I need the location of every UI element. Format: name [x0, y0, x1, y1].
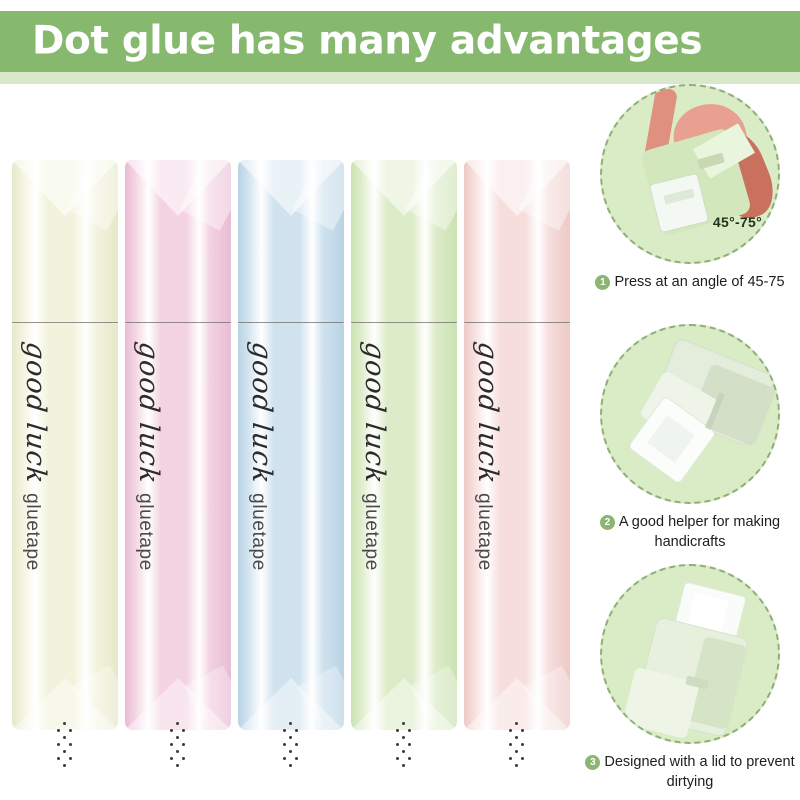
- pen-cap: [12, 160, 118, 323]
- glue-tape-applicator-tip-photo: [600, 324, 780, 504]
- pen-brand-label: good luckgluetape: [246, 342, 277, 571]
- pink-glue-tape-pen[interactable]: good luckgluetape: [125, 160, 231, 730]
- pen-seam-line: [464, 322, 570, 323]
- pen-bottom-facet: [238, 664, 344, 730]
- pen-brand-label: good luckgluetape: [472, 342, 503, 571]
- pen-sub-text: gluetape: [473, 493, 495, 571]
- pen-cap: [125, 160, 231, 323]
- glue-tape-with-lid-photo: [600, 564, 780, 744]
- caption-line: A good helper for making: [619, 514, 780, 530]
- pen-cap: [351, 160, 457, 323]
- step-number-badge: 1: [595, 275, 610, 290]
- pen-sub-text: gluetape: [21, 493, 43, 571]
- pen-seam-line: [238, 322, 344, 323]
- header-underline: [0, 72, 800, 84]
- pen-script-text: good luck: [246, 340, 277, 485]
- diamond-dot-cluster-icon: [166, 722, 190, 768]
- rose-glue-tape-pen[interactable]: good luckgluetape: [464, 160, 570, 730]
- diamond-dot-cluster-icon: [279, 722, 303, 768]
- angle-overlay-label: 45°-75°: [713, 214, 762, 230]
- step-2: 2A good helper for makinghandicrafts: [580, 324, 800, 552]
- pen-script-text: good luck: [133, 340, 164, 485]
- pen-cap-facet: [351, 160, 457, 222]
- pen-bottom-facet: [125, 664, 231, 730]
- page-title: Dot glue has many advantages: [32, 18, 702, 63]
- hand-pressing-glue-tape-photo: 45°-75°: [600, 84, 780, 264]
- pen-bottom-facet: [351, 664, 457, 730]
- pen-sub-text: gluetape: [134, 493, 156, 571]
- pen-cap: [464, 160, 570, 323]
- pen-cap-facet: [125, 160, 231, 222]
- header-banner: Dot glue has many advantages: [0, 11, 800, 72]
- step-1: 45°-75°1Press at an angle of 45-75: [580, 84, 800, 293]
- pen-script-text: good luck: [359, 340, 390, 485]
- pen-cap-facet: [238, 160, 344, 222]
- step-caption: 2A good helper for makinghandicrafts: [580, 513, 800, 552]
- caption-line: dirtying: [667, 774, 714, 790]
- pen-seam-line: [125, 322, 231, 323]
- pen-seam-line: [351, 322, 457, 323]
- pen-brand-label: good luckgluetape: [359, 342, 390, 571]
- pen-bottom-facet: [12, 664, 118, 730]
- step-number-badge: 3: [585, 755, 600, 770]
- caption-line: handicrafts: [655, 534, 726, 550]
- step-caption: 3Designed with a lid to preventdirtying: [580, 753, 800, 792]
- product-lineup: good luckgluetapegood luckgluetapegood l…: [0, 160, 580, 735]
- pen-brand-label: good luckgluetape: [133, 342, 164, 571]
- diamond-dot-cluster-icon: [392, 722, 416, 768]
- diamond-dot-cluster-icon: [505, 722, 529, 768]
- pen-bottom-facet: [464, 664, 570, 730]
- green-glue-tape-pen[interactable]: good luckgluetape: [351, 160, 457, 730]
- pen-seam-line: [12, 322, 118, 323]
- pen-brand-label: good luckgluetape: [20, 342, 51, 571]
- pen-sub-text: gluetape: [360, 493, 382, 571]
- step-number-badge: 2: [600, 515, 615, 530]
- caption-line: Designed with a lid to prevent: [604, 754, 794, 770]
- step-3: 3Designed with a lid to preventdirtying: [580, 564, 800, 792]
- pen-sub-text: gluetape: [247, 493, 269, 571]
- step-caption: 1Press at an angle of 45-75: [580, 273, 800, 293]
- steps-column: 45°-75°1Press at an angle of 45-752A goo…: [580, 84, 800, 800]
- pen-script-text: good luck: [472, 340, 503, 485]
- pen-script-text: good luck: [20, 340, 51, 485]
- caption-line: Press at an angle of 45-75: [614, 274, 784, 290]
- pen-cap-facet: [464, 160, 570, 222]
- pen-cap: [238, 160, 344, 323]
- diamond-dot-cluster-icon: [53, 722, 77, 768]
- pen-cap-facet: [12, 160, 118, 222]
- blue-glue-tape-pen[interactable]: good luckgluetape: [238, 160, 344, 730]
- cream-glue-tape-pen[interactable]: good luckgluetape: [12, 160, 118, 730]
